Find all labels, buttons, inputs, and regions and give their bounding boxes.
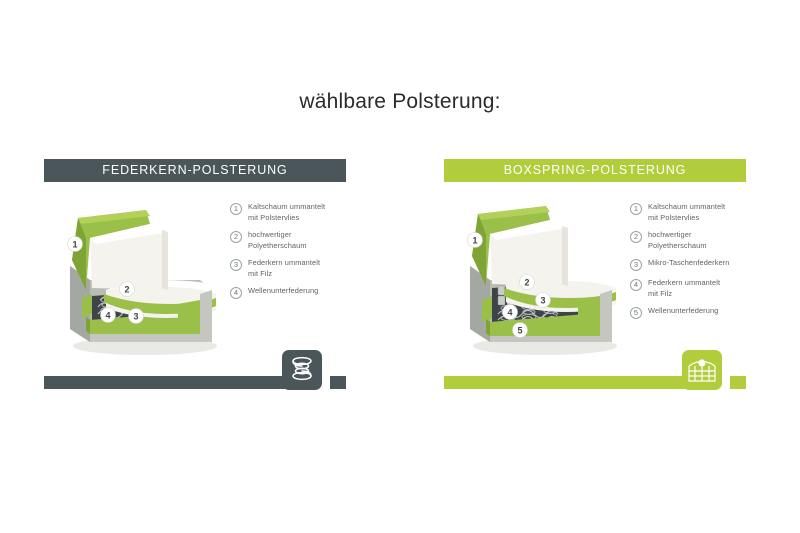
federkern-sofa-cutaway-illustration: 1 2 3 4 bbox=[50, 194, 236, 369]
panel-boxspring: BOXSPRING-POLSTERUNG bbox=[444, 152, 754, 400]
legend-label: hochwertiger Polyetherschaum bbox=[248, 230, 307, 251]
legend-label-line2: mit Filz bbox=[648, 289, 672, 298]
legend-number: 4 bbox=[230, 287, 242, 299]
legend-item: 3 Federkern ummantelt mit Filz bbox=[230, 258, 358, 279]
legend-label-line2: Polyetherschaum bbox=[248, 241, 307, 250]
legend-number: 3 bbox=[630, 259, 642, 271]
panel-header-federkern: FEDERKERN-POLSTERUNG bbox=[44, 159, 346, 182]
svg-text:5: 5 bbox=[517, 325, 522, 335]
legend-label-line1: Mikro-Taschenfederkern bbox=[648, 258, 729, 267]
legend-label-line1: Federkern ummantelt bbox=[248, 258, 320, 267]
legend-label-line2: Polyetherschaum bbox=[648, 241, 707, 250]
legend-number: 1 bbox=[230, 203, 242, 215]
legend-number: 4 bbox=[630, 279, 642, 291]
svg-text:4: 4 bbox=[105, 310, 110, 320]
footer-square-boxspring bbox=[730, 376, 746, 389]
legend-label: Federkern ummantelt mit Filz bbox=[648, 278, 720, 299]
boxspring-mattress-icon bbox=[682, 350, 722, 390]
legend-label-line1: Wellenunterfederung bbox=[648, 306, 718, 315]
svg-text:3: 3 bbox=[540, 295, 545, 305]
panel-header-boxspring: BOXSPRING-POLSTERUNG bbox=[444, 159, 746, 182]
legend-label: Kaltschaum ummantelt mit Polstervlies bbox=[248, 202, 325, 223]
legend-item: 1 Kaltschaum ummantelt mit Polstervlies bbox=[230, 202, 358, 223]
legend-item: 4 Federkern ummantelt mit Filz bbox=[630, 278, 758, 299]
svg-text:2: 2 bbox=[124, 284, 129, 294]
legend-item: 5 Wellenunterfederung bbox=[630, 306, 758, 319]
legend-label-line1: hochwertiger bbox=[248, 230, 292, 239]
legend-item: 1 Kaltschaum ummantelt mit Polstervlies bbox=[630, 202, 758, 223]
legend-label-line2: mit Polstervlies bbox=[248, 213, 299, 222]
svg-text:2: 2 bbox=[524, 277, 529, 287]
footer-bar-boxspring bbox=[444, 376, 702, 389]
legend-label: Kaltschaum ummantelt mit Polstervlies bbox=[648, 202, 725, 223]
legend-label: Mikro-Taschenfederkern bbox=[648, 258, 729, 269]
svg-text:1: 1 bbox=[72, 239, 77, 249]
legend-label: Wellenunterfederung bbox=[648, 306, 718, 317]
legend-federkern: 1 Kaltschaum ummantelt mit Polstervlies … bbox=[230, 202, 358, 306]
legend-item: 2 hochwertiger Polyetherschaum bbox=[630, 230, 758, 251]
legend-item: 3 Mikro-Taschenfederkern bbox=[630, 258, 758, 271]
legend-number: 2 bbox=[630, 231, 642, 243]
svg-text:4: 4 bbox=[507, 307, 512, 317]
legend-label-line2: mit Polstervlies bbox=[648, 213, 699, 222]
legend-number: 2 bbox=[230, 231, 242, 243]
boxspring-sofa-cutaway-illustration: 1 2 3 4 5 bbox=[450, 194, 636, 369]
legend-item: 2 hochwertiger Polyetherschaum bbox=[230, 230, 358, 251]
legend-number: 5 bbox=[630, 307, 642, 319]
page-root: wählbare Polsterung: FEDERKERN-POLSTERUN… bbox=[0, 0, 800, 533]
legend-label-line1: Kaltschaum ummantelt bbox=[248, 202, 325, 211]
legend-label: Federkern ummantelt mit Filz bbox=[248, 258, 320, 279]
coil-spring-icon bbox=[282, 350, 322, 390]
page-title: wählbare Polsterung: bbox=[0, 90, 800, 114]
legend-label-line1: hochwertiger bbox=[648, 230, 692, 239]
footer-bar-federkern bbox=[44, 376, 302, 389]
legend-boxspring: 1 Kaltschaum ummantelt mit Polstervlies … bbox=[630, 202, 758, 326]
svg-text:3: 3 bbox=[133, 311, 138, 321]
legend-number: 3 bbox=[230, 259, 242, 271]
legend-label-line1: Kaltschaum ummantelt bbox=[648, 202, 725, 211]
legend-label: Wellenunterfederung bbox=[248, 286, 318, 297]
footer-square-federkern bbox=[330, 376, 346, 389]
legend-label: hochwertiger Polyetherschaum bbox=[648, 230, 707, 251]
svg-text:1: 1 bbox=[472, 235, 477, 245]
panel-federkern: FEDERKERN-POLSTERUNG bbox=[44, 152, 354, 400]
legend-number: 1 bbox=[630, 203, 642, 215]
legend-label-line1: Federkern ummantelt bbox=[648, 278, 720, 287]
legend-label-line1: Wellenunterfederung bbox=[248, 286, 318, 295]
legend-label-line2: mit Filz bbox=[248, 269, 272, 278]
legend-item: 4 Wellenunterfederung bbox=[230, 286, 358, 299]
